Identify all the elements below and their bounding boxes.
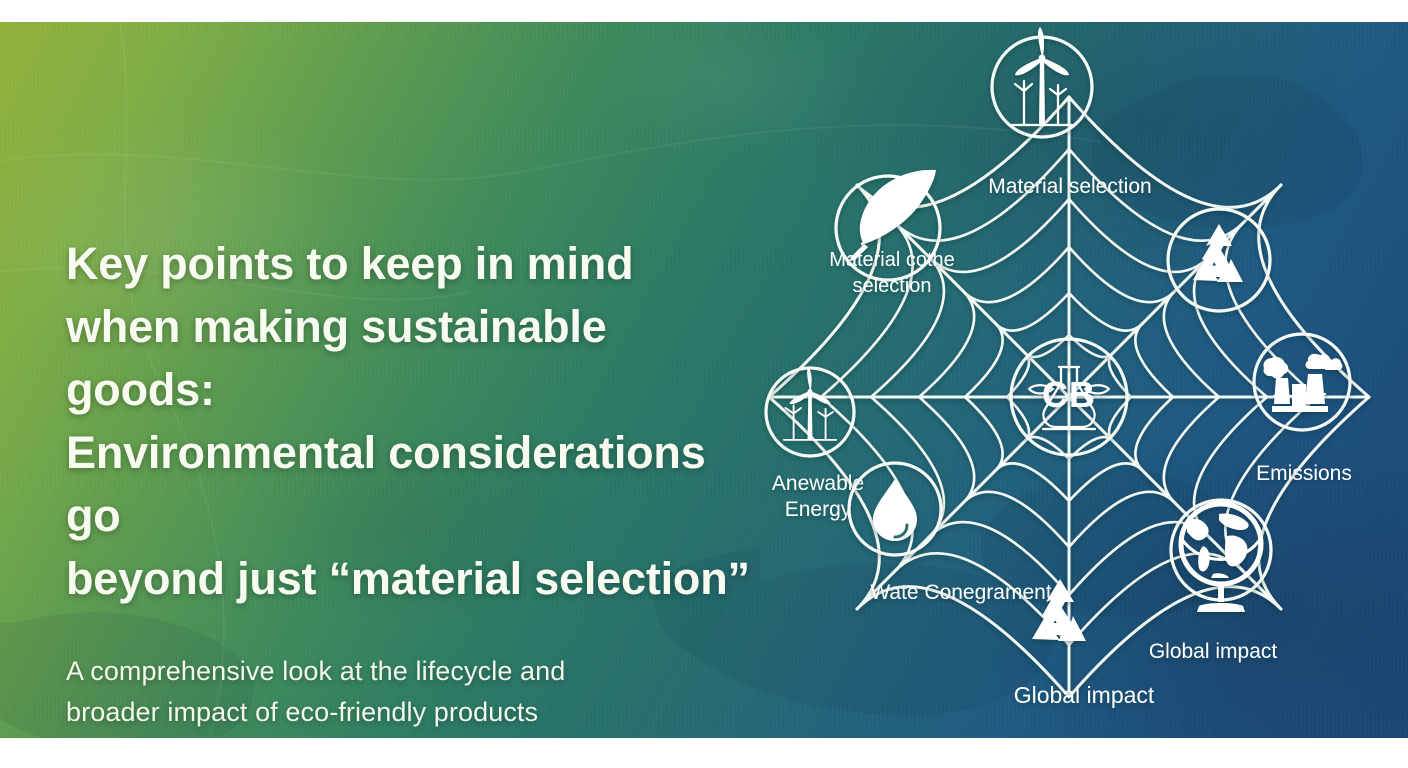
sustainability-web-diagram: CB Material selection [730, 22, 1408, 738]
headline-line-4: beyond just “material selection” [66, 553, 750, 604]
node-emissions[interactable]: Emissions [1254, 334, 1352, 485]
node-recycling[interactable] [1168, 209, 1270, 311]
node-label-emissions: Emissions [1256, 462, 1352, 485]
node-label-material-cothe-line1: Material cothe [829, 249, 955, 271]
water-drop-icon [873, 479, 917, 541]
headline-line-3: Environmental considerations go [66, 427, 706, 541]
node-material-cothe-selection[interactable]: Material cothe selection [829, 170, 955, 297]
node-label-renewable-energy-line1: Anewable [772, 472, 864, 495]
node-label-water-management: Wate Conegrament [870, 581, 1051, 604]
node-water-management[interactable]: Wate Conegrament [849, 463, 1052, 604]
subtitle-line-2: broader impact of eco-friendly products [66, 697, 538, 727]
node-label-material-cothe-line2: selection [853, 275, 932, 297]
node-label-global-impact-globe: Global impact [1149, 640, 1278, 663]
headline-line-1: Key points to keep in mind [66, 238, 633, 289]
page-subtitle: A comprehensive look at the lifecycle an… [66, 651, 666, 733]
banner-image: Key points to keep in mindwhen making su… [0, 0, 1408, 768]
wind-turbine-icon [784, 368, 836, 440]
node-label-material-selection: Material selection [988, 175, 1151, 198]
headline-line-2: when making sustainable goods: [66, 301, 607, 415]
node-label-renewable-energy-line2: Energy [785, 498, 852, 521]
center-node-label: CB [1042, 374, 1096, 415]
node-label-global-impact-recycle: Global impact [1014, 682, 1155, 708]
headline-block: Key points to keep in mindwhen making su… [66, 232, 766, 733]
page-title: Key points to keep in mindwhen making su… [66, 232, 766, 610]
subtitle-line-1: A comprehensive look at the lifecycle an… [66, 656, 565, 686]
node-global-impact-globe[interactable]: Global impact [1149, 500, 1278, 663]
